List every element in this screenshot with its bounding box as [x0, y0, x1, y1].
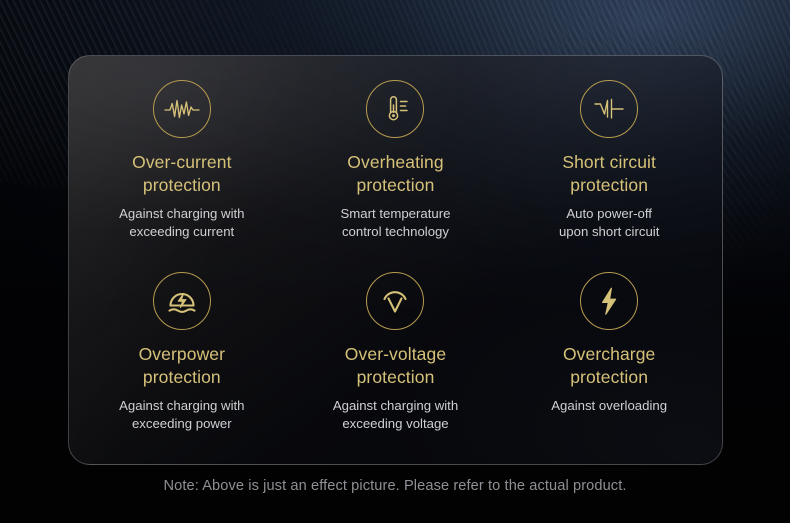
feature-desc-line1: Against charging with	[119, 206, 244, 221]
feature-title-line1: Over-voltage	[345, 344, 446, 364]
feature-desc-line1: Auto power-off	[566, 206, 652, 221]
feature-description: Against overloading	[551, 397, 667, 415]
feature-desc-line2: exceeding current	[129, 224, 234, 239]
feature-description: Smart temperature control technology	[341, 205, 451, 241]
protection-features-card: Over-current protection Against charging…	[68, 55, 723, 465]
short-circuit-icon	[580, 80, 638, 138]
feature-title-line1: Overpower	[139, 344, 226, 364]
feature-overpower: Overpower protection Against charging wi…	[75, 262, 289, 454]
feature-title-line1: Overheating	[347, 152, 443, 172]
lightning-bolt-filled-icon	[580, 272, 638, 330]
thermometer-icon	[366, 80, 424, 138]
disclaimer-note: Note: Above is just an effect picture. P…	[0, 478, 790, 494]
feature-title-line2: protection	[357, 175, 435, 195]
feature-title: Overcharge protection	[563, 343, 655, 390]
feature-desc-line1: Against charging with	[119, 398, 244, 413]
feature-title-line2: protection	[143, 175, 221, 195]
feature-desc-line2: exceeding power	[132, 416, 232, 431]
feature-description: Against charging with exceeding power	[119, 397, 244, 433]
overpower-bolt-dome-icon	[153, 272, 211, 330]
feature-title-line1: Short circuit	[562, 152, 656, 172]
feature-title: Over-voltage protection	[345, 343, 446, 390]
feature-short-circuit: Short circuit protection Auto power-off …	[502, 70, 716, 262]
feature-title-line2: protection	[357, 367, 435, 387]
feature-title: Overpower protection	[139, 343, 226, 390]
feature-title: Short circuit protection	[562, 151, 656, 198]
feature-over-current: Over-current protection Against charging…	[75, 70, 289, 262]
feature-overcharge: Overcharge protection Against overloadin…	[502, 262, 716, 454]
pulse-waveform-icon	[153, 80, 211, 138]
feature-desc-line1: Against overloading	[551, 398, 667, 413]
feature-title-line2: protection	[570, 175, 648, 195]
voltmeter-v-icon	[366, 272, 424, 330]
feature-desc-line2: upon short circuit	[559, 224, 659, 239]
features-grid: Over-current protection Against charging…	[69, 56, 722, 464]
feature-desc-line1: Against charging with	[333, 398, 458, 413]
feature-description: Against charging with exceeding current	[119, 205, 244, 241]
feature-title-line1: Overcharge	[563, 344, 655, 364]
feature-description: Auto power-off upon short circuit	[559, 205, 659, 241]
feature-description: Against charging with exceeding voltage	[333, 397, 458, 433]
feature-title-line2: protection	[143, 367, 221, 387]
feature-desc-line1: Smart temperature	[341, 206, 451, 221]
feature-overheating: Overheating protection Smart temperature…	[289, 70, 503, 262]
feature-desc-line2: control technology	[342, 224, 449, 239]
feature-title-line1: Over-current	[132, 152, 231, 172]
feature-title-line2: protection	[570, 367, 648, 387]
feature-desc-line2: exceeding voltage	[342, 416, 448, 431]
feature-title: Overheating protection	[347, 151, 443, 198]
feature-over-voltage: Over-voltage protection Against charging…	[289, 262, 503, 454]
feature-title: Over-current protection	[132, 151, 231, 198]
